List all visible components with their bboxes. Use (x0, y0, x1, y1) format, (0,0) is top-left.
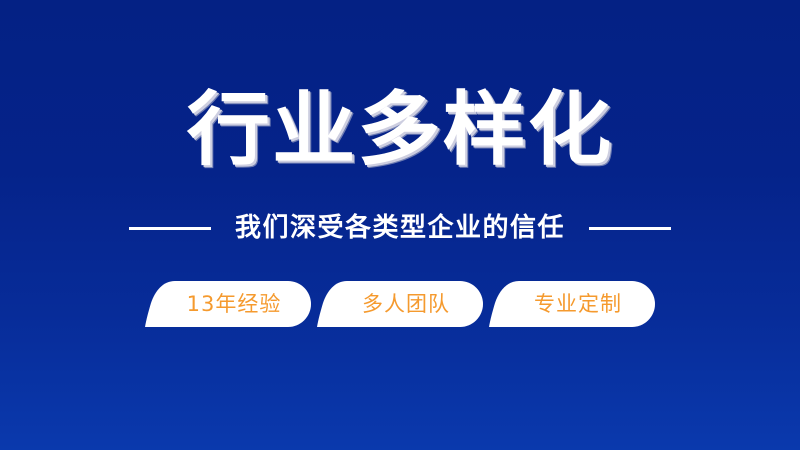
headline-block: 行业多样化 (0, 82, 800, 178)
badge-custom[interactable]: 专业定制 (489, 281, 655, 327)
badge-group: 13年经验 多人团队 专业定制 (0, 281, 800, 327)
page-title: 行业多样化 (187, 82, 613, 178)
badge-team-label: 多人团队 (317, 281, 483, 327)
badge-experience[interactable]: 13年经验 (145, 281, 311, 327)
poster-canvas: 行业多样化 我们深受各类型企业的信任 13年经验 多人团队 专业定制 (0, 0, 800, 450)
badge-custom-label: 专业定制 (489, 281, 655, 327)
badge-team[interactable]: 多人团队 (317, 281, 483, 327)
page-subtitle: 我们深受各类型企业的信任 (235, 212, 565, 244)
subtitle-block: 我们深受各类型企业的信任 (0, 212, 800, 244)
badge-experience-label: 13年经验 (145, 281, 311, 327)
divider-line-right (589, 227, 671, 230)
divider-line-left (129, 227, 211, 230)
